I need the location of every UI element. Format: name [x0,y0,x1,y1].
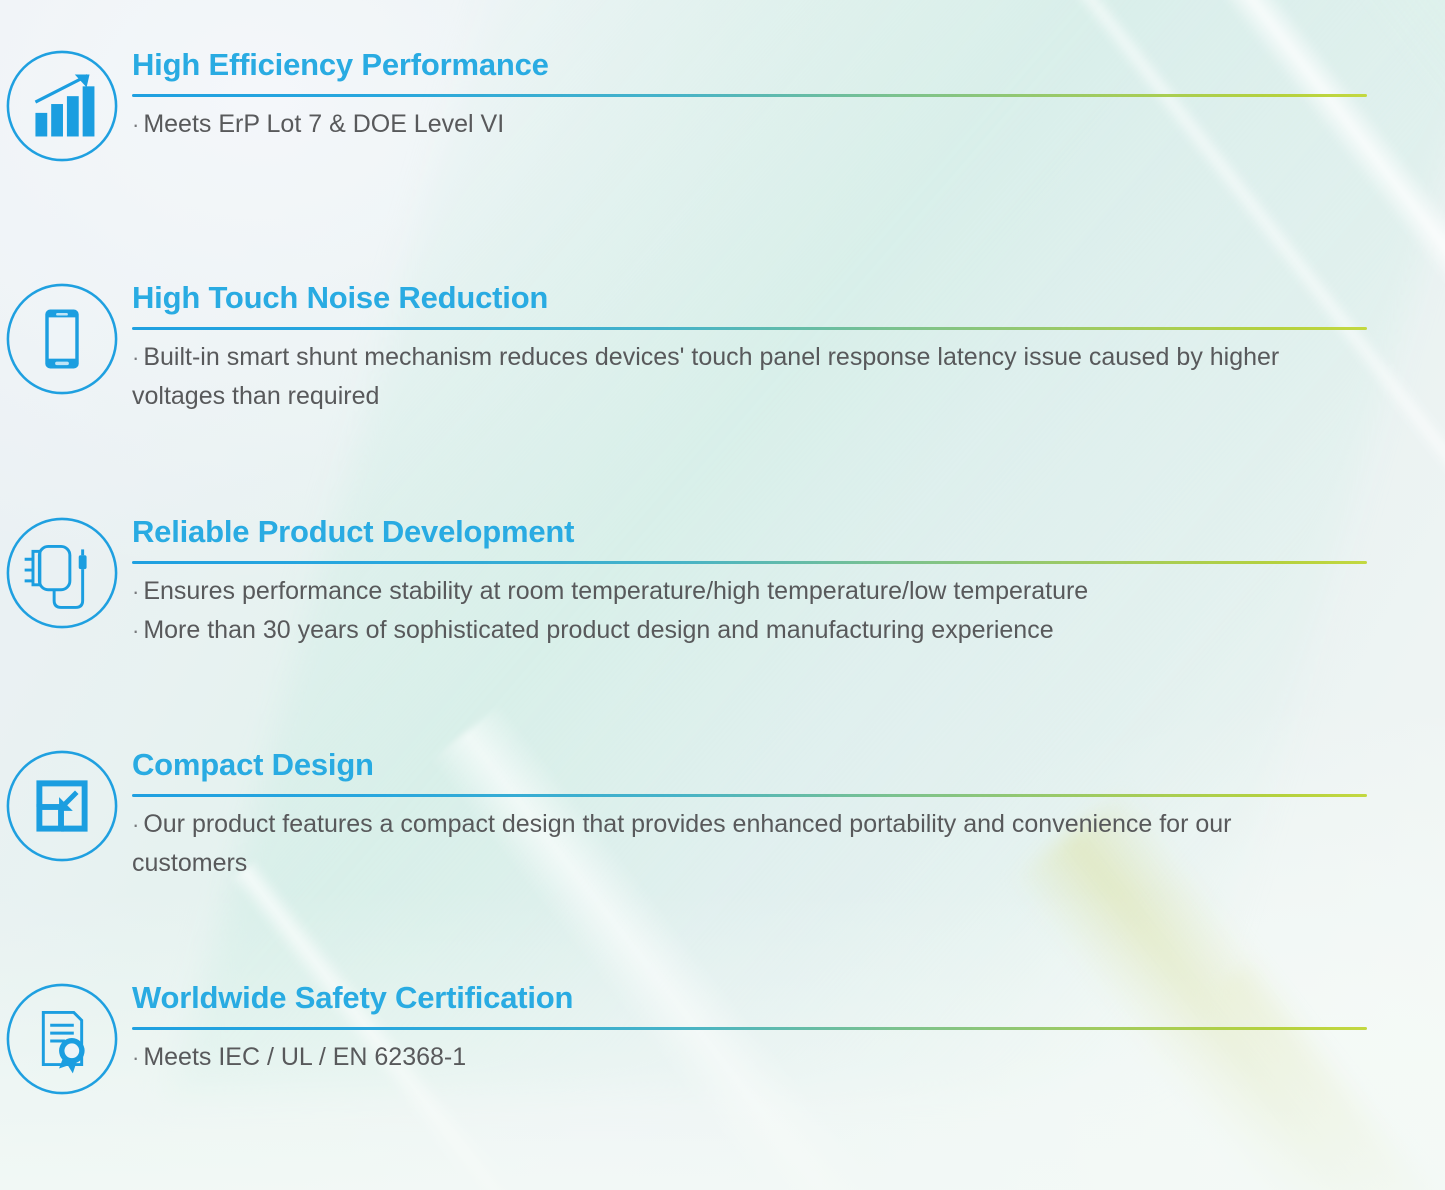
feature-bullet: ·Meets IEC / UL / EN 62368-1 [132,1038,1367,1077]
feature-divider [132,794,1367,797]
feature-bullet: ·More than 30 years of sophisticated pro… [132,611,1367,650]
feature-divider [132,1027,1367,1030]
bullet-text: Meets IEC / UL / EN 62368-1 [143,1043,466,1071]
feature-bullet: ·Built-in smart shunt mechanism reduces … [132,338,1292,415]
feature-icon-container [0,278,124,398]
bullet-marker: · [132,112,143,137]
feature-divider [132,94,1367,97]
feature-title: Reliable Product Development [132,512,1367,552]
feature-title: High Touch Noise Reduction [132,278,1367,318]
compact-resize-icon [3,747,121,865]
feature-item-reliable-product-development: Reliable Product Development ·Ensures pe… [0,512,1445,650]
feature-divider [132,561,1367,564]
bullet-text: Meets ErP Lot 7 & DOE Level VI [143,110,504,138]
feature-bullet: ·Meets ErP Lot 7 & DOE Level VI [132,105,1367,144]
feature-text-block: Worldwide Safety Certification ·Meets IE… [124,978,1445,1077]
bar-chart-growth-icon [3,47,121,165]
feature-title: Compact Design [132,745,1367,785]
bullet-marker: · [132,345,143,370]
feature-item-compact-design: Compact Design ·Our product features a c… [0,745,1445,882]
bullet-text: Ensures performance stability at room te… [143,577,1088,605]
feature-bullet: ·Our product features a compact design t… [132,805,1292,882]
power-adapter-icon [3,514,121,632]
feature-item-worldwide-safety-certification: Worldwide Safety Certification ·Meets IE… [0,978,1445,1098]
feature-text-block: High Touch Noise Reduction ·Built-in sma… [124,278,1445,415]
feature-title: High Efficiency Performance [132,45,1367,85]
feature-title: Worldwide Safety Certification [132,978,1367,1018]
certificate-award-icon [3,980,121,1098]
feature-icon-container [0,45,124,165]
bullet-text: Our product features a compact design th… [132,810,1232,877]
bullet-text: Built-in smart shunt mechanism reduces d… [132,343,1279,410]
feature-icon-container [0,512,124,632]
feature-icon-container [0,978,124,1098]
feature-divider [132,327,1367,330]
feature-text-block: High Efficiency Performance ·Meets ErP L… [124,45,1445,144]
feature-item-high-touch-noise-reduction: High Touch Noise Reduction ·Built-in sma… [0,278,1445,415]
feature-bullet: ·Ensures performance stability at room t… [132,572,1367,611]
bullet-marker: · [132,618,143,643]
feature-text-block: Reliable Product Development ·Ensures pe… [124,512,1445,650]
feature-item-high-efficiency-performance: High Efficiency Performance ·Meets ErP L… [0,45,1445,165]
bullet-marker: · [132,1045,143,1070]
bullet-text: More than 30 years of sophisticated prod… [143,616,1053,644]
smartphone-icon [3,280,121,398]
feature-text-block: Compact Design ·Our product features a c… [124,745,1445,882]
bullet-marker: · [132,579,143,604]
feature-icon-container [0,745,124,865]
bullet-marker: · [132,812,143,837]
